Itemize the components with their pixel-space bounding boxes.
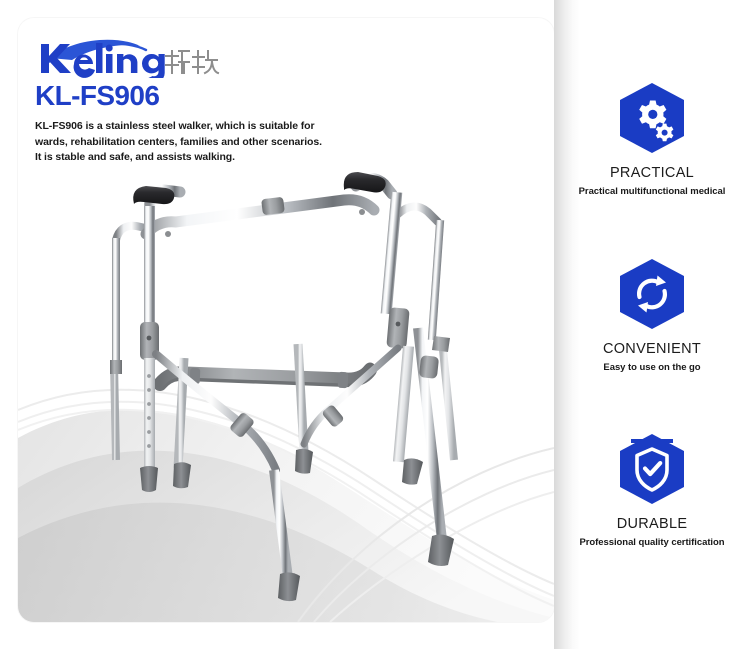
product-model-title: KL-FS906 <box>35 80 159 112</box>
feature-title: DURABLE <box>554 515 750 533</box>
shield-check-icon <box>615 433 689 505</box>
product-card: KL-FS906 KL-FS906 is a stainless steel w… <box>18 18 554 622</box>
feature-card-convenient[interactable]: CONVENIENT Easy to use on the go <box>554 258 750 374</box>
feature-subtitle: Professional quality certification <box>554 536 750 549</box>
product-description: KL-FS906 is a stainless steel walker, wh… <box>35 119 325 166</box>
feature-title: CONVENIENT <box>554 340 750 358</box>
feature-subtitle: Easy to use on the go <box>554 361 750 374</box>
product-image-walker <box>98 168 498 618</box>
product-banner-page: KL-FS906 KL-FS906 is a stainless steel w… <box>0 0 750 649</box>
gears-icon <box>615 82 689 154</box>
brand-logo <box>36 34 221 78</box>
feature-subtitle: Practical multifunctional medical <box>554 185 750 198</box>
feature-card-practical[interactable]: PRACTICAL Practical multifunctional medi… <box>554 82 750 198</box>
refresh-cycle-icon <box>615 258 689 330</box>
feature-title: PRACTICAL <box>554 164 750 182</box>
feature-rail: PRACTICAL Practical multifunctional medi… <box>554 0 750 649</box>
feature-card-durable[interactable]: DURABLE Professional quality certificati… <box>554 433 750 549</box>
